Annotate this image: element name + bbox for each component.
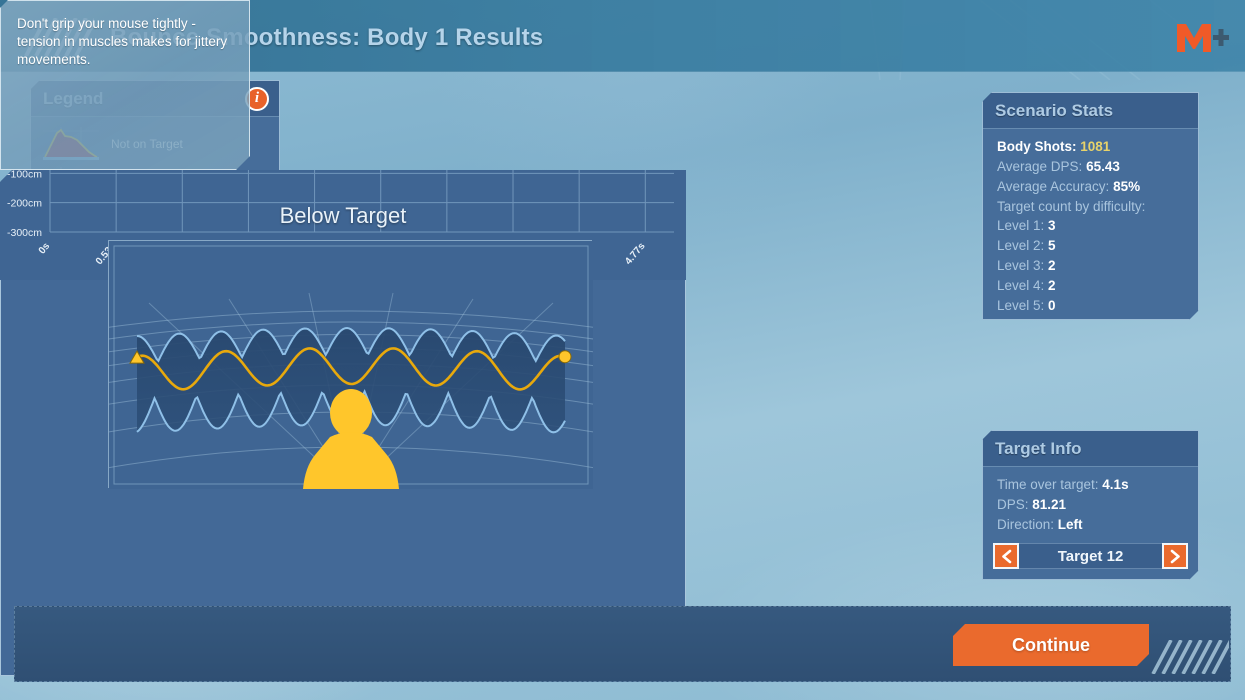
target-info-list: Time over target: 4.1sDPS: 81.21Directio…	[983, 467, 1198, 543]
scenario-stats-title: Scenario Stats	[995, 101, 1113, 121]
target-info-value: 4.1s	[1102, 477, 1128, 492]
svg-text:-300cm: -300cm	[7, 227, 42, 239]
continue-button[interactable]: Continue	[953, 624, 1149, 666]
target-navigator: Target 12	[993, 543, 1188, 569]
target-info-key: DPS:	[997, 497, 1032, 512]
stat-row: Average DPS: 65.43	[997, 157, 1184, 177]
stat-row: Level 1: 3	[997, 216, 1184, 236]
dot-end-icon	[559, 351, 571, 363]
scenario-stats-header: Scenario Stats	[983, 93, 1198, 129]
target-info-value: Left	[1058, 517, 1083, 532]
target-info-value: 81.21	[1032, 497, 1066, 512]
stat-value: 2	[1048, 278, 1056, 293]
target-info-key: Time over target:	[997, 477, 1102, 492]
tip-panel: Don't grip your mouse tightly - tension …	[0, 0, 250, 170]
stat-row: Average Accuracy: 85%	[997, 177, 1184, 197]
target-info-row: DPS: 81.21	[997, 495, 1184, 515]
stat-value: 65.43	[1086, 159, 1120, 174]
main-chart-card: Vertical Tracking 300cm200cm100cm0cm-100…	[0, 170, 686, 676]
stat-key: Body Shots:	[997, 139, 1080, 154]
stat-row: Body Shots: 1081	[997, 137, 1184, 157]
target-info-key: Direction:	[997, 517, 1058, 532]
stat-key: Level 5:	[997, 298, 1048, 313]
stat-value: 5	[1048, 238, 1056, 253]
scenario-stats-list: Body Shots: 1081Average DPS: 65.43Averag…	[983, 129, 1198, 324]
chevron-left-icon[interactable]	[993, 543, 1019, 569]
stat-value: 0	[1048, 298, 1056, 313]
stat-row: Target count by difficulty:	[997, 197, 1184, 217]
stat-row: Level 3: 2	[997, 256, 1184, 276]
scenario-stats-panel: Scenario Stats Body Shots: 1081Average D…	[982, 92, 1199, 320]
stat-key: Level 3:	[997, 258, 1048, 273]
stat-key: Average Accuracy:	[997, 179, 1113, 194]
diagonal-stripes-icon	[1151, 640, 1229, 674]
current-target-label: Target 12	[1019, 543, 1162, 569]
stat-key: Average DPS:	[997, 159, 1086, 174]
stat-key: Level 1:	[997, 218, 1048, 233]
not-on-target-regions	[372, 116, 503, 123]
stat-key: Level 4:	[997, 278, 1048, 293]
stat-value: 3	[1048, 218, 1056, 233]
target-info-row: Time over target: 4.1s	[997, 475, 1184, 495]
tip-text: Don't grip your mouse tightly - tension …	[1, 1, 249, 84]
target-info-panel: Target Info Time over target: 4.1sDPS: 8…	[982, 430, 1199, 580]
target-info-row: Direction: Left	[997, 515, 1184, 535]
chevron-right-icon[interactable]	[1162, 543, 1188, 569]
stat-key: Level 2:	[997, 238, 1048, 253]
stat-row: Level 4: 2	[997, 276, 1184, 296]
stat-key: Target count by difficulty:	[997, 199, 1145, 214]
target-info-header: Target Info	[983, 431, 1198, 467]
target-info-title: Target Info	[995, 439, 1082, 459]
svg-text:-200cm: -200cm	[7, 198, 42, 210]
stat-value: 1081	[1080, 139, 1110, 154]
stat-row: Level 5: 0	[997, 296, 1184, 316]
arena-visualization	[108, 240, 592, 488]
stat-value: 2	[1048, 258, 1056, 273]
stat-row: Level 2: 5	[997, 236, 1184, 256]
stat-value: 85%	[1113, 179, 1140, 194]
app-logo-icon[interactable]	[1173, 18, 1229, 56]
svg-text:-100cm: -100cm	[7, 168, 42, 180]
